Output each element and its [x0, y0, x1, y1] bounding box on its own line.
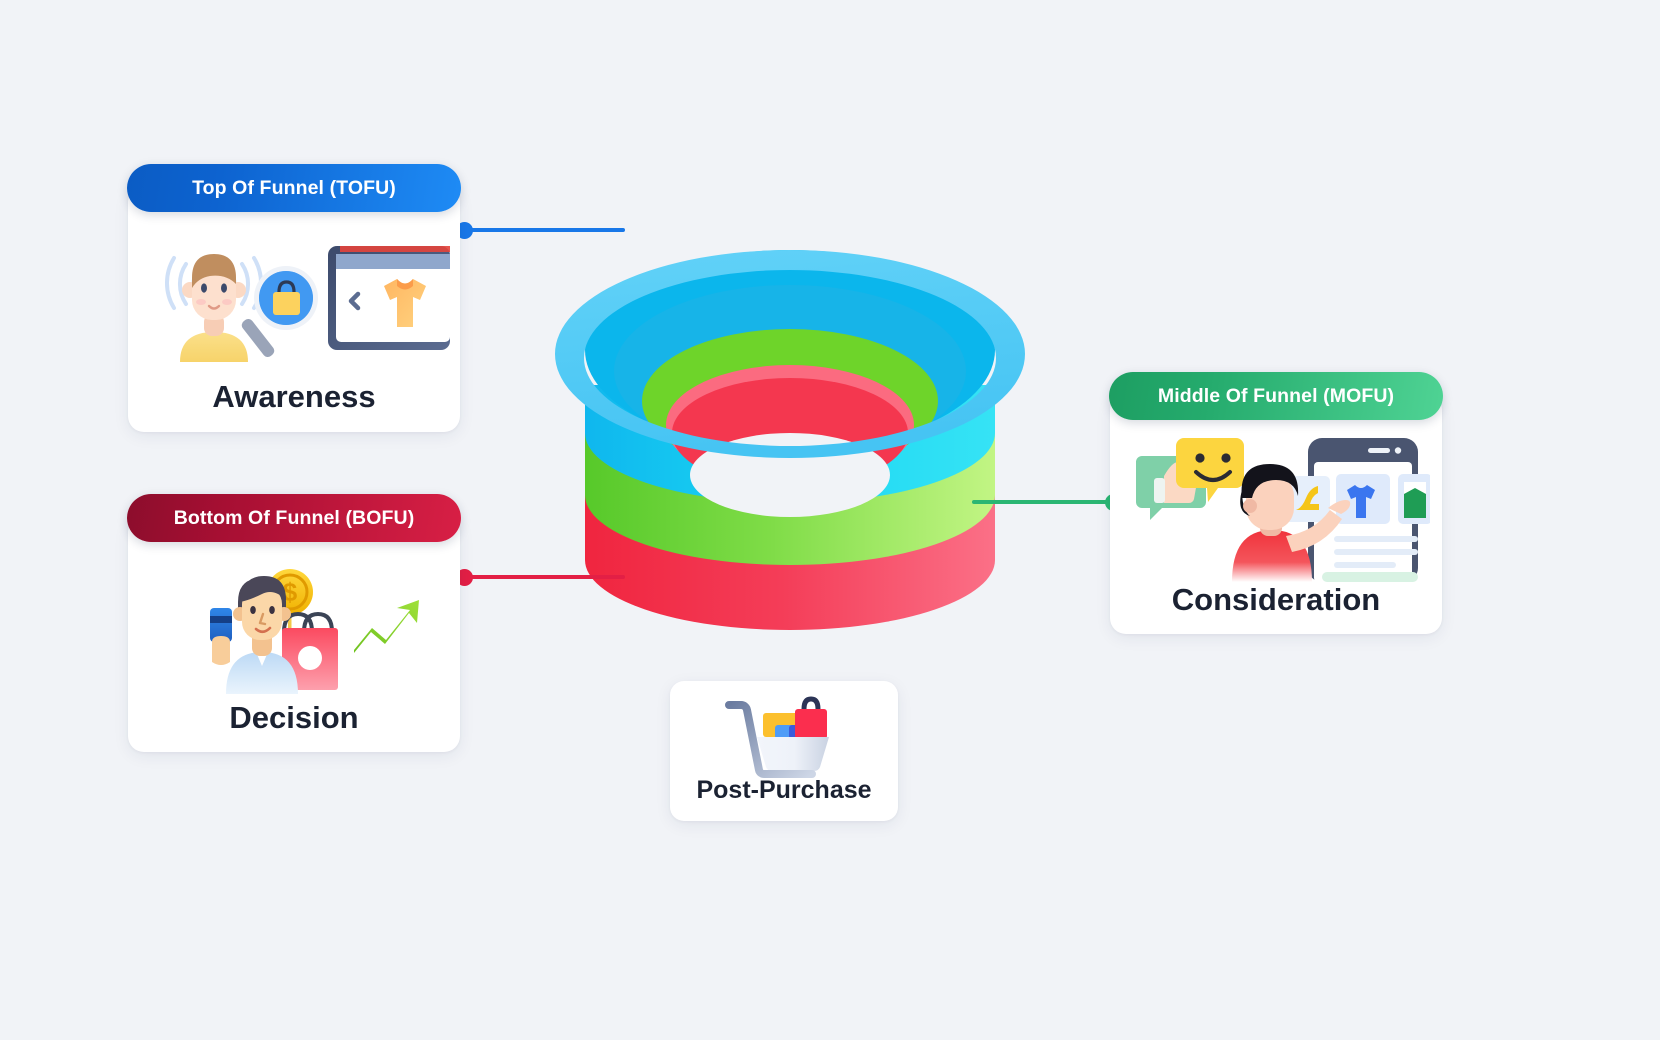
card-decision-caption: Decision	[128, 700, 460, 736]
badge-bofu[interactable]: Bottom Of Funnel (BOFU)	[127, 494, 461, 542]
card-consideration[interactable]: Middle Of Funnel (MOFU) Consideration	[1110, 394, 1442, 634]
consideration-illustration	[1136, 432, 1430, 582]
badge-mofu[interactable]: Middle Of Funnel (MOFU)	[1109, 372, 1443, 420]
card-decision[interactable]: $	[128, 516, 460, 752]
card-awareness[interactable]: Top Of Funnel (TOFU) Awareness	[128, 186, 460, 432]
funnel-graphic	[520, 175, 1060, 665]
decision-illustration: $	[206, 558, 426, 694]
connector-bofu-line	[463, 575, 625, 579]
connector-bofu	[456, 569, 626, 587]
diagram-canvas: Top Of Funnel (TOFU) Awareness	[0, 0, 1660, 1040]
connector-tofu	[456, 222, 626, 240]
card-post-purchase-caption: Post-Purchase	[670, 776, 898, 805]
card-consideration-caption: Consideration	[1110, 582, 1442, 618]
connector-mofu-line	[972, 500, 1112, 504]
card-post-purchase[interactable]: Post-Purchase	[670, 681, 898, 821]
badge-tofu[interactable]: Top Of Funnel (TOFU)	[127, 164, 461, 212]
awareness-illustration	[144, 222, 450, 362]
connector-mofu	[972, 494, 1122, 512]
connector-tofu-line	[463, 228, 625, 232]
shopping-cart-illustration	[725, 695, 845, 781]
card-awareness-caption: Awareness	[128, 379, 460, 415]
